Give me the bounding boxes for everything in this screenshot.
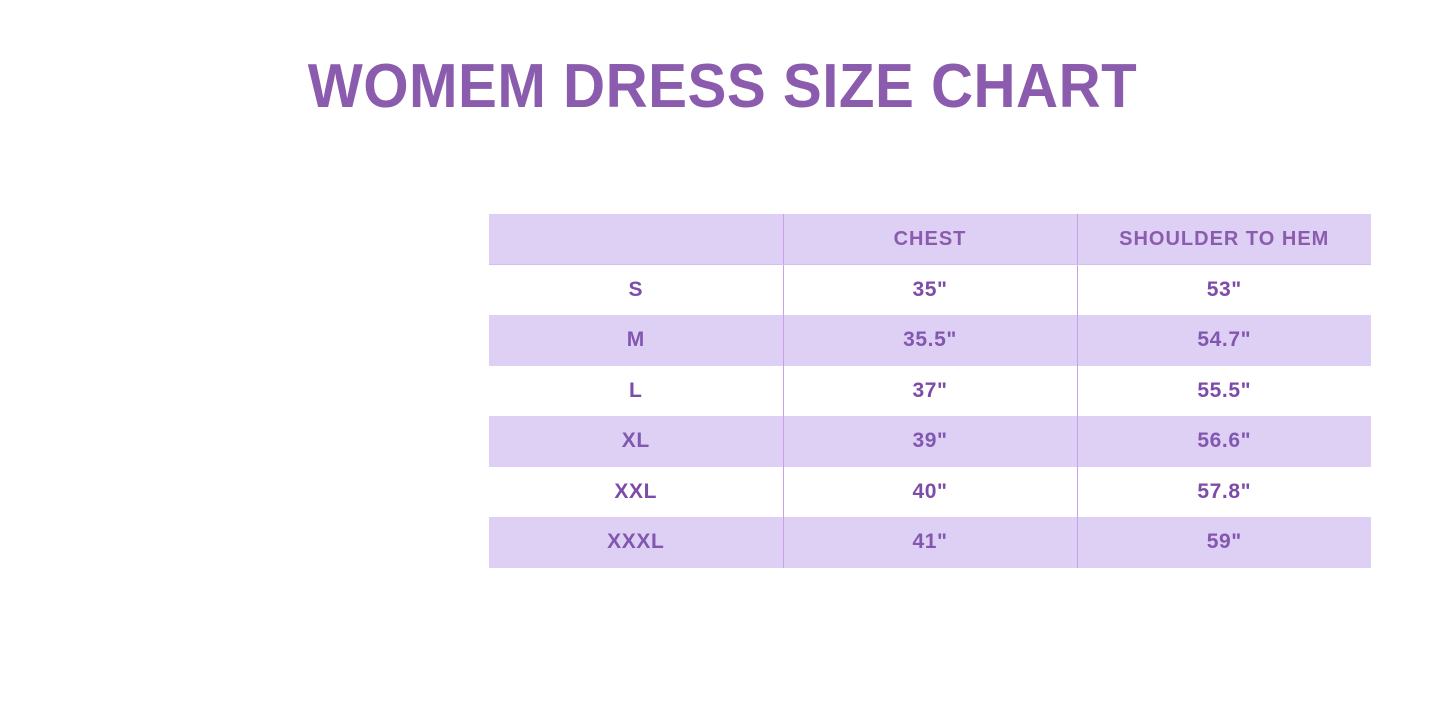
cell-hem: 56.6" bbox=[1077, 416, 1371, 467]
size-chart-table: CHEST SHOULDER TO HEM S 35" 53" M 35.5" … bbox=[489, 214, 1371, 568]
cell-chest: 37" bbox=[783, 366, 1077, 417]
cell-chest: 35.5" bbox=[783, 315, 1077, 366]
column-header-size bbox=[489, 214, 783, 265]
page-title: WOMEM DRESS SIZE CHART bbox=[43, 52, 1401, 122]
cell-chest: 39" bbox=[783, 416, 1077, 467]
table-row: XL 39" 56.6" bbox=[489, 416, 1371, 467]
cell-hem: 54.7" bbox=[1077, 315, 1371, 366]
cell-size: L bbox=[489, 366, 783, 417]
table-header-row: CHEST SHOULDER TO HEM bbox=[489, 214, 1371, 265]
cell-size: XL bbox=[489, 416, 783, 467]
cell-chest: 35" bbox=[783, 265, 1077, 316]
table-row: XXXL 41" 59" bbox=[489, 517, 1371, 568]
cell-hem: 55.5" bbox=[1077, 366, 1371, 417]
column-header-chest: CHEST bbox=[783, 214, 1077, 265]
cell-chest: 41" bbox=[783, 517, 1077, 568]
size-chart-table-container: CHEST SHOULDER TO HEM S 35" 53" M 35.5" … bbox=[489, 214, 1371, 567]
column-header-shoulder-to-hem: SHOULDER TO HEM bbox=[1077, 214, 1371, 265]
table-row: M 35.5" 54.7" bbox=[489, 315, 1371, 366]
cell-size: S bbox=[489, 265, 783, 316]
cell-hem: 57.8" bbox=[1077, 467, 1371, 518]
cell-hem: 59" bbox=[1077, 517, 1371, 568]
cell-hem: 53" bbox=[1077, 265, 1371, 316]
table-row: S 35" 53" bbox=[489, 265, 1371, 316]
cell-size: XXL bbox=[489, 467, 783, 518]
cell-chest: 40" bbox=[783, 467, 1077, 518]
size-chart-page: WOMEM DRESS SIZE CHART CHEST SHOULDER TO… bbox=[0, 0, 1445, 723]
table-header: CHEST SHOULDER TO HEM bbox=[489, 214, 1371, 265]
table-row: L 37" 55.5" bbox=[489, 366, 1371, 417]
table-body: S 35" 53" M 35.5" 54.7" L 37" 55.5" XL 3… bbox=[489, 265, 1371, 568]
table-row: XXL 40" 57.8" bbox=[489, 467, 1371, 518]
cell-size: M bbox=[489, 315, 783, 366]
cell-size: XXXL bbox=[489, 517, 783, 568]
